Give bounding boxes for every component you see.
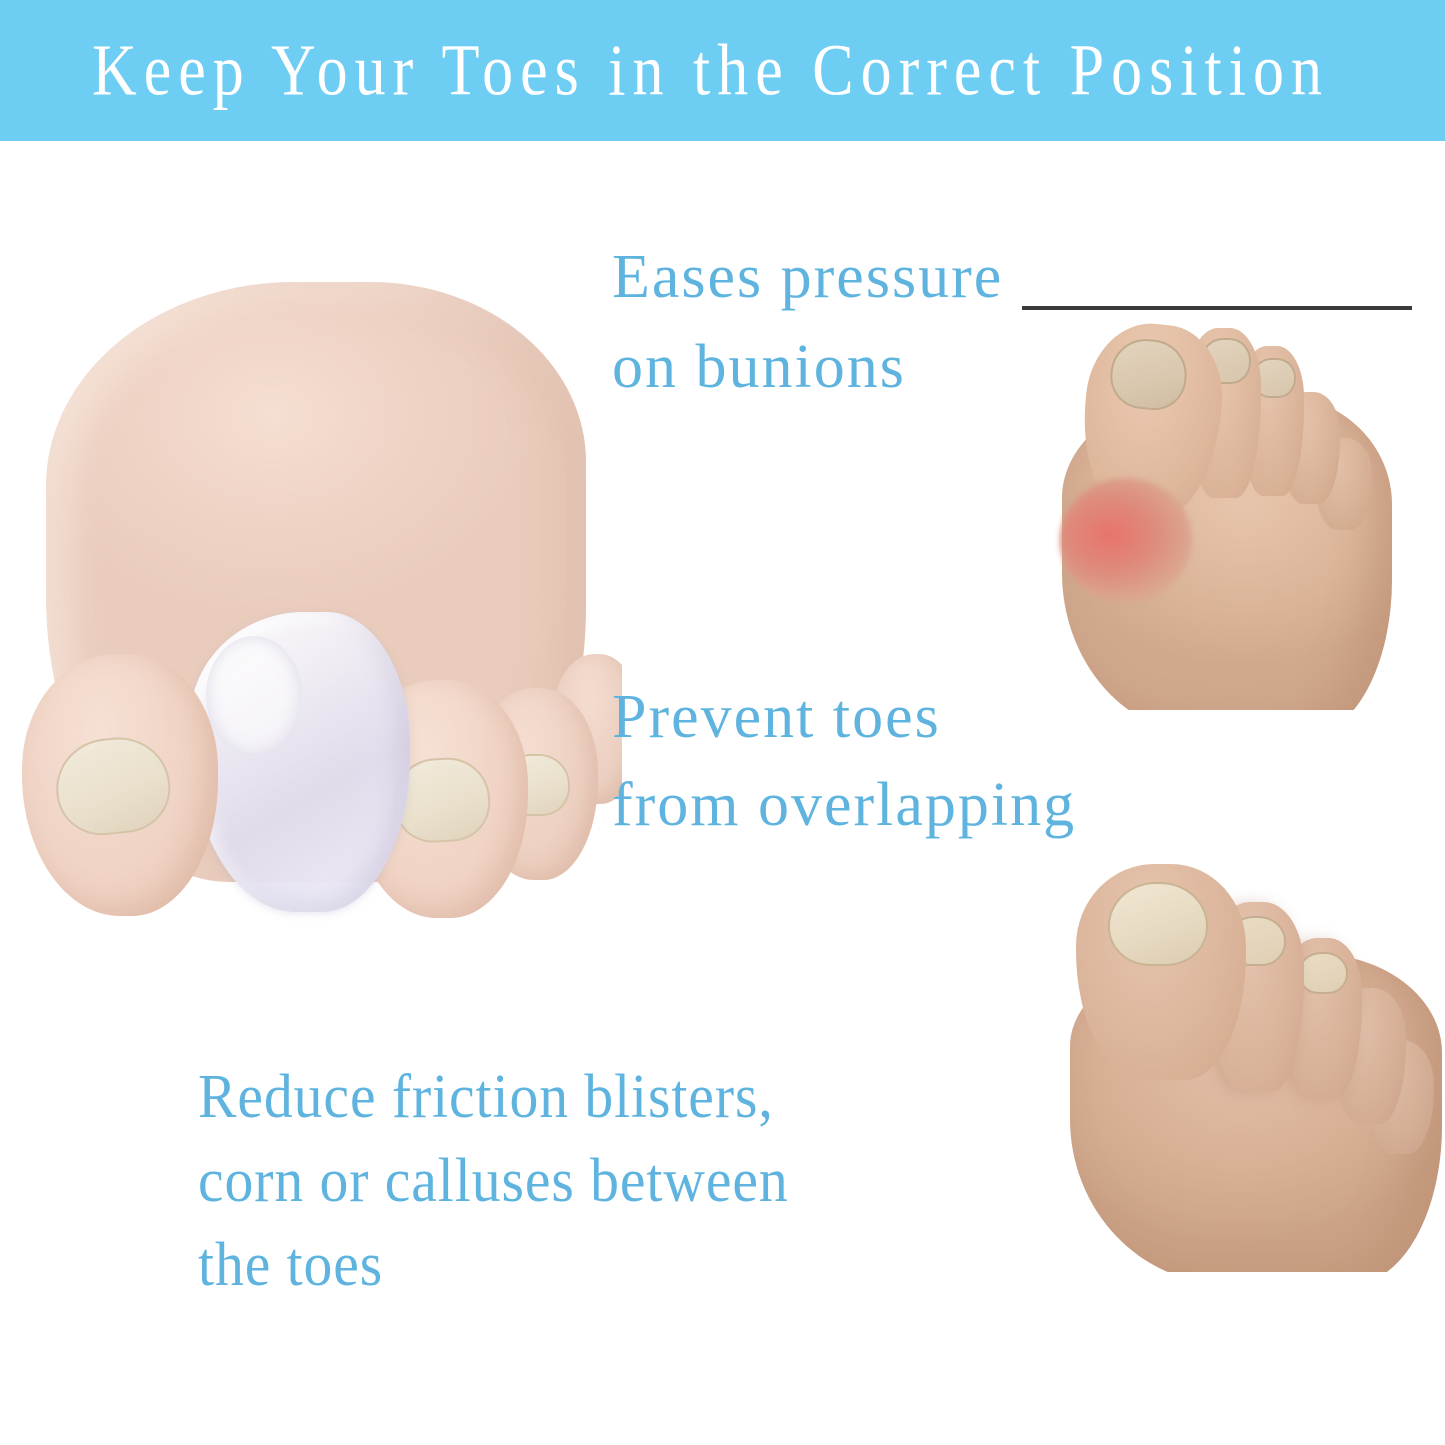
- toe-big: [22, 654, 218, 916]
- photo-bunion-foot: [1022, 318, 1414, 710]
- photo-overlapping-toes-foot: [1032, 858, 1442, 1272]
- feature-text-eases-pressure: Eases pressure on bunions: [612, 232, 1003, 412]
- feature-text-prevent-overlapping: Prevent toes from overlapping: [612, 673, 1076, 849]
- photo-product-on-foot: [22, 282, 622, 922]
- toenail: [1108, 882, 1208, 966]
- header-banner: Keep Your Toes in the Correct Position: [0, 0, 1445, 141]
- bunion-inflammation: [1060, 478, 1192, 602]
- divider-rule: [1022, 306, 1412, 310]
- product-infographic: Keep Your Toes in the Correct Position E…: [0, 0, 1445, 1445]
- toenail: [1298, 952, 1348, 994]
- toe-big: [1076, 864, 1246, 1080]
- toenail: [1107, 336, 1190, 414]
- toenail: [51, 732, 174, 839]
- feature-text-reduce-friction: Reduce friction blisters, corn or callus…: [198, 1055, 789, 1307]
- separator-loop: [206, 636, 302, 756]
- page-title: Keep Your Toes in the Correct Position: [92, 34, 1329, 107]
